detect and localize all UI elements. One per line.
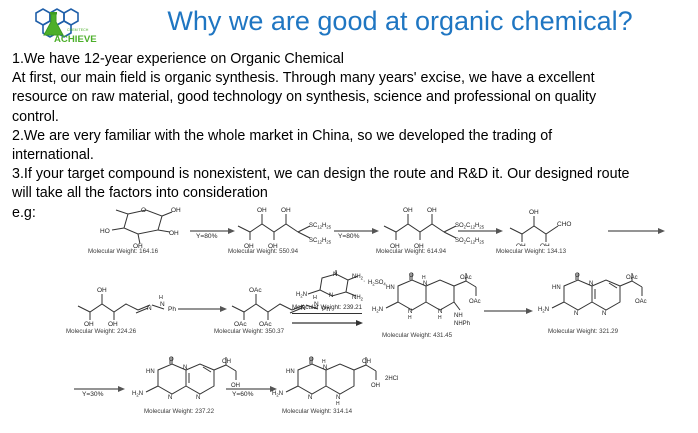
svg-text:O: O — [169, 357, 174, 363]
body-line-6: international. — [12, 146, 688, 165]
structure-phenylhydrazone-triol: OH OH OH N N H Ph — [72, 278, 180, 326]
svg-text:OH: OH — [84, 321, 94, 326]
svg-text:N: N — [323, 365, 327, 371]
svg-text:O: O — [409, 273, 414, 279]
svg-text:Ph: Ph — [168, 306, 176, 313]
svg-text:OAc: OAc — [234, 321, 247, 326]
body-line-5: 2.We are very familiar with the whole ma… — [12, 127, 688, 146]
svg-text:SC12H25: SC12H25 — [309, 223, 332, 229]
svg-text:N: N — [574, 311, 578, 317]
body-line-7: 3.If your target compound is nonexistent… — [12, 165, 688, 184]
reaction-arrow-4 — [608, 222, 666, 240]
svg-text:H2N: H2N — [538, 307, 549, 313]
slide-header: CHEM TECH ACHIEVE Why we are good at org… — [0, 0, 698, 46]
structure-pterin-diacetate-aromatic: O HN N N N H2N OAc OAc — [534, 272, 654, 324]
svg-text:OH: OH — [516, 243, 526, 246]
yield-label-row3-2: Y=60% — [232, 390, 253, 399]
svg-text:·: · — [363, 278, 365, 285]
body-line-3: resource on raw material, good technolog… — [12, 88, 688, 107]
mw-label-321: Molecular Weight: 321.29 — [548, 328, 618, 336]
mw-label-350: Molecular Weight: 350.37 — [214, 328, 284, 336]
reaction-arrow-6 — [292, 314, 364, 332]
svg-text:OH: OH — [108, 321, 118, 326]
svg-text:OAc: OAc — [469, 299, 481, 305]
svg-text:OH: OH — [222, 359, 231, 365]
mw-label-237: Molecular Weight: 237.22 — [144, 408, 214, 416]
body-line-2: At first, our main field is organic synt… — [12, 69, 688, 88]
svg-text:OH: OH — [281, 207, 291, 214]
svg-text:H: H — [322, 359, 326, 365]
svg-text:OH: OH — [171, 207, 181, 214]
svg-text:N: N — [589, 281, 593, 287]
slide-body-text: 1.We have 12-year experience on Organic … — [12, 50, 688, 223]
scheme-row-3: Y=30% O HN — [0, 358, 698, 428]
mw-label-224: Molecular Weight: 224.26 — [66, 328, 136, 336]
svg-text:OAc: OAc — [259, 321, 272, 326]
svg-text:NH2: NH2 — [352, 295, 364, 301]
svg-text:H2N: H2N — [372, 307, 383, 313]
svg-text:HN: HN — [286, 369, 295, 375]
mw-label-614: Molecular Weight: 614.94 — [376, 248, 446, 256]
svg-text:N: N — [168, 395, 172, 401]
reaction-scheme: O OH HO OH OH Molecular Weight: 164.16 Y… — [0, 198, 698, 433]
achieve-chem-tech-logo: CHEM TECH ACHIEVE — [22, 3, 98, 45]
svg-text:N: N — [308, 395, 312, 401]
svg-text:H: H — [438, 315, 442, 321]
mw-label-134: Molecular Weight: 134.13 — [496, 248, 566, 256]
svg-text:OH: OH — [257, 207, 267, 214]
reaction-arrow-7 — [484, 302, 534, 320]
svg-text:N: N — [329, 293, 333, 299]
svg-text:OAc: OAc — [460, 275, 472, 281]
svg-text:OH: OH — [427, 207, 437, 214]
svg-text:NH: NH — [454, 313, 463, 319]
body-line-1: 1.We have 12-year experience on Organic … — [12, 50, 688, 69]
svg-text:H2N: H2N — [272, 391, 283, 397]
svg-text:SC12H25: SC12H25 — [309, 238, 332, 244]
svg-text:N: N — [147, 305, 152, 312]
svg-text:OH: OH — [97, 287, 107, 294]
svg-text:OH: OH — [529, 209, 539, 216]
svg-text:N: N — [160, 301, 165, 308]
reaction-arrow-5 — [178, 300, 228, 318]
svg-text:O: O — [309, 357, 314, 363]
mw-label-431: Molecular Weight: 431.45 — [382, 332, 452, 340]
svg-text:H2N: H2N — [132, 391, 143, 397]
svg-text:O: O — [141, 207, 146, 214]
svg-text:OH: OH — [403, 207, 413, 214]
mw-label-314: Molecular Weight: 314.14 — [282, 408, 352, 416]
svg-text:HN: HN — [146, 369, 155, 375]
logo-tagline: CHEM TECH — [67, 28, 89, 32]
mw-label-164: Molecular Weight: 164.16 — [88, 248, 158, 256]
yield-label-row1-2: Y=80% — [338, 232, 359, 241]
yield-label-row3-1: Y=30% — [82, 390, 103, 399]
svg-text:HN: HN — [386, 285, 395, 291]
svg-text:CHO: CHO — [557, 221, 571, 228]
svg-text:HN: HN — [552, 285, 561, 291]
svg-text:OAc: OAc — [626, 275, 638, 281]
scheme-row-1: O OH HO OH OH Molecular Weight: 164.16 Y… — [0, 198, 698, 270]
structure-rhamnose-pyranose: O OH HO OH OH — [100, 202, 186, 248]
svg-text:NH2: NH2 — [352, 274, 364, 280]
svg-text:O: O — [575, 273, 580, 279]
svg-text:N: N — [423, 281, 427, 287]
svg-text:OH: OH — [362, 359, 371, 365]
reaction-arrow-3 — [458, 222, 504, 240]
structure-tetrahydrobiopterin-dihydrochloride: O HN N H N N H H2N OH OH 2HCl — [268, 356, 408, 408]
scheme-row-2: OH OH OH N N H Ph Molecular Weight: 224.… — [0, 272, 698, 354]
reagent-mw-label-239: Molecular Weight: 239.21 — [292, 304, 362, 314]
logo-wordmark: ACHIEVE — [54, 34, 97, 45]
svg-text:H2N: H2N — [296, 292, 307, 298]
body-line-4: control. — [12, 108, 688, 127]
structure-dithioacetal-sc12h25: OH OH OH OH SC12H25 SC12H25 — [232, 198, 336, 248]
svg-text:N: N — [196, 395, 200, 401]
svg-text:N: N — [333, 272, 337, 278]
structure-pterin-diacetate-nhph: O HN N H N H H2N N H OAc OAc NH NHPh — [368, 272, 486, 328]
svg-text:OH: OH — [169, 230, 179, 237]
svg-text:NHPh: NHPh — [454, 321, 470, 327]
structure-deoxy-aldose-cho: OH OH OH CHO — [504, 200, 590, 246]
page-title: Why we are good at organic chemical? — [110, 4, 690, 38]
svg-text:2HCl: 2HCl — [385, 376, 398, 382]
svg-text:N: N — [183, 365, 187, 371]
svg-text:H: H — [159, 295, 163, 301]
svg-text:HO: HO — [100, 228, 110, 235]
svg-text:H: H — [408, 315, 412, 321]
svg-text:OH: OH — [371, 383, 380, 389]
svg-text:H: H — [336, 401, 340, 407]
svg-text:OAc: OAc — [249, 287, 262, 294]
mw-label-550: Molecular Weight: 550.94 — [228, 248, 298, 256]
svg-text:N: N — [602, 311, 606, 317]
svg-text:H: H — [422, 275, 426, 281]
yield-label-row1-1: Y=80% — [196, 232, 217, 241]
svg-text:OH: OH — [540, 243, 550, 246]
svg-text:OAc: OAc — [635, 299, 647, 305]
